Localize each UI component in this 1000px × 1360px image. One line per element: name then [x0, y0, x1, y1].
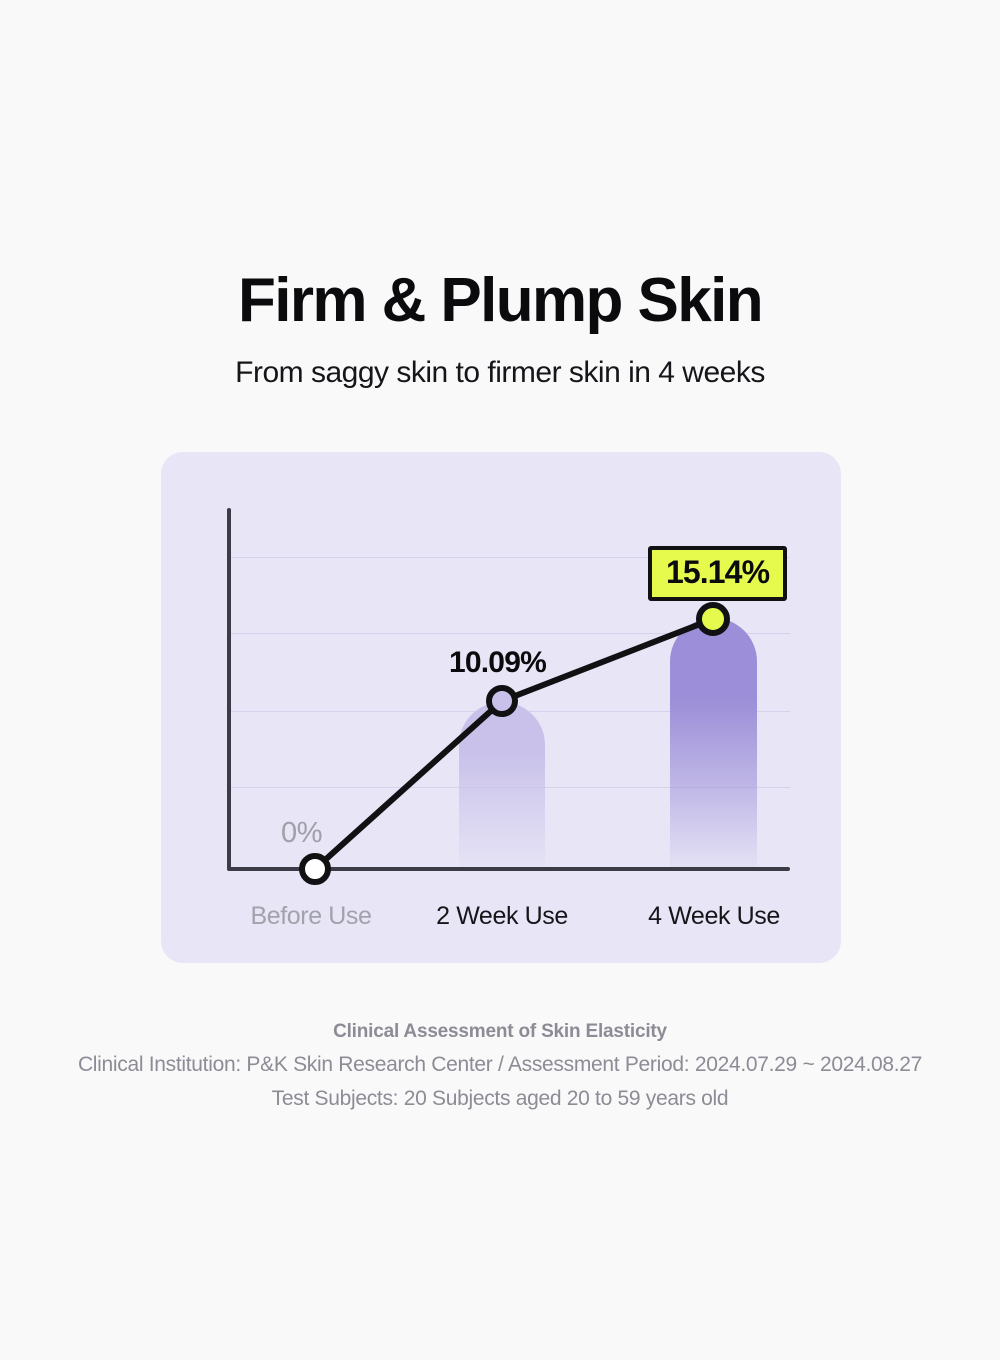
heading-block: Firm & Plump Skin From saggy skin to fir…	[0, 268, 1000, 391]
footnote-test-subjects: Test Subjects: 20 Subjects aged 20 to 59…	[0, 1080, 1000, 1114]
data-point-before-use	[302, 856, 328, 882]
footnote-study-title: Clinical Assessment of Skin Elasticity	[0, 1018, 1000, 1046]
x-tick-4-week-use: 4 Week Use	[624, 902, 804, 931]
chart-card: 0% 10.09% 15.14% Before Use 2 Week Use 4…	[161, 452, 841, 963]
trend-line-svg	[161, 452, 841, 963]
page-title: Firm & Plump Skin	[0, 268, 1000, 333]
x-tick-2-week-use: 2 Week Use	[412, 902, 592, 931]
footnote-institution-period: Clinical Institution: P&K Skin Research …	[0, 1046, 1000, 1080]
page-root: Firm & Plump Skin From saggy skin to fir…	[0, 0, 1000, 1360]
value-label-before-use: 0%	[281, 817, 322, 850]
chart-plot-area: 0% 10.09% 15.14% Before Use 2 Week Use 4…	[161, 452, 841, 963]
data-point-2-week-use	[489, 688, 515, 714]
footnote-block: Clinical Assessment of Skin Elasticity C…	[0, 1018, 1000, 1114]
value-badge-4-week-use: 15.14%	[648, 546, 787, 601]
value-label-2-week-use: 10.09%	[449, 646, 546, 680]
page-subtitle: From saggy skin to firmer skin in 4 week…	[0, 333, 1000, 391]
data-point-4-week-use	[699, 605, 727, 633]
x-tick-before-use: Before Use	[221, 902, 401, 931]
